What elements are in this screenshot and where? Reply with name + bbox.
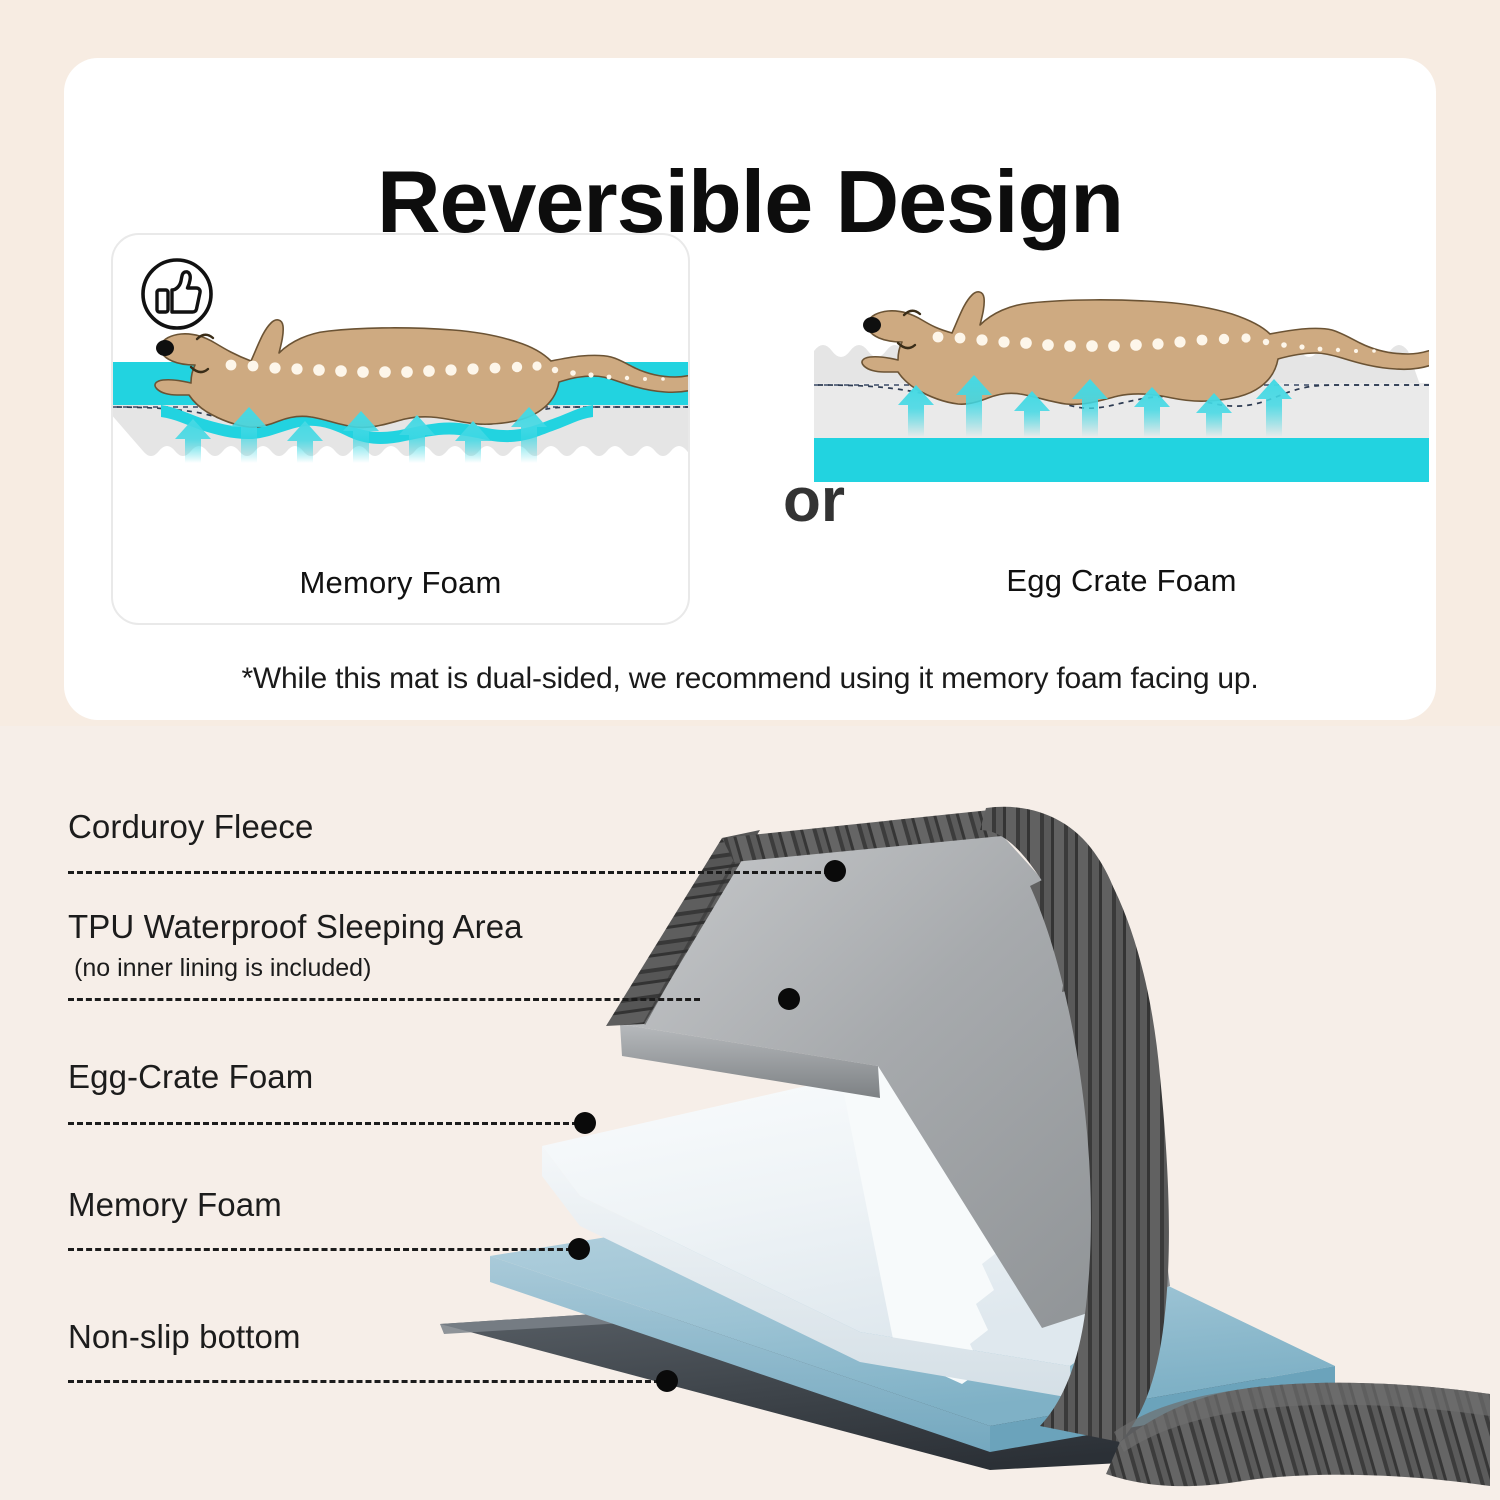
egg-crate-foam-panel: Egg Crate Foam [814, 233, 1429, 621]
layer-sublabel-tpu-waterproof: (no inner lining is included) [74, 954, 371, 983]
layer-breakdown-section: Corduroy Fleece TPU Waterproof Sleeping … [0, 726, 1500, 1500]
egg-crate-foam-caption: Egg Crate Foam [814, 563, 1429, 599]
reversible-design-card: Reversible Design [64, 58, 1436, 720]
footnote-text: *While this mat is dual-sided, we recomm… [64, 662, 1436, 696]
layer-label-tpu-waterproof: TPU Waterproof Sleeping Area [68, 908, 523, 946]
infographic-page: Reversible Design [0, 0, 1500, 1500]
leader-line-non-slip-bottom [68, 1380, 660, 1383]
leader-line-egg-crate-foam [68, 1122, 578, 1125]
memory-foam-caption: Memory Foam [113, 565, 688, 601]
leader-dot-egg-crate-foam [574, 1112, 596, 1134]
layer-label-non-slip-bottom: Non-slip bottom [68, 1318, 301, 1356]
leader-line-memory-foam [68, 1248, 572, 1251]
layer-label-egg-crate-foam: Egg-Crate Foam [68, 1058, 313, 1096]
layer-label-memory-foam: Memory Foam [68, 1186, 282, 1224]
leader-line-corduroy-fleece [68, 871, 830, 874]
memory-foam-panel: Memory Foam [111, 233, 690, 625]
thumbs-up-icon [140, 257, 214, 331]
leader-dot-tpu-waterproof [778, 988, 800, 1010]
leader-dot-corduroy-fleece [824, 860, 846, 882]
layer-label-corduroy-fleece: Corduroy Fleece [68, 808, 313, 846]
leader-dot-non-slip-bottom [656, 1370, 678, 1392]
leader-line-tpu-waterproof [68, 998, 700, 1001]
leader-dot-memory-foam [568, 1238, 590, 1260]
